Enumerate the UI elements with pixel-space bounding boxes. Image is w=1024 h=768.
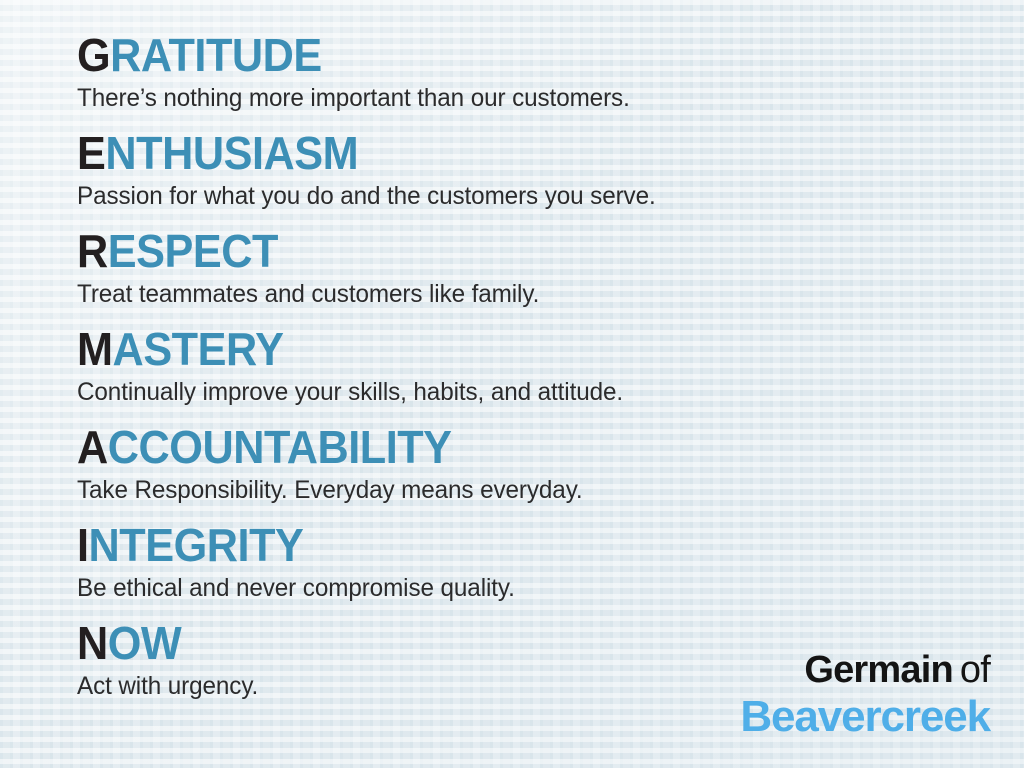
value-block-integrity: INTEGRITY Be ethical and never compromis… <box>77 520 977 605</box>
value-description-enthusiasm: Passion for what you do and the customer… <box>77 179 950 213</box>
value-block-gratitude: GRATITUDE There’s nothing more important… <box>77 30 977 115</box>
value-heading-gratitude: GRATITUDE <box>77 30 923 80</box>
value-heading-mastery: MASTERY <box>77 324 923 374</box>
value-description-respect: Treat teammates and customers like famil… <box>77 277 950 311</box>
value-heading-integrity: INTEGRITY <box>77 520 923 570</box>
value-heading-lead-letter: I <box>77 519 89 571</box>
value-description-gratitude: There’s nothing more important than our … <box>77 81 950 115</box>
value-heading-lead-letter: R <box>77 225 108 277</box>
value-block-accountability: ACCOUNTABILITY Take Responsibility. Ever… <box>77 422 977 507</box>
value-heading-lead-letter: M <box>77 323 113 375</box>
logo-line-primary: Germainof <box>740 649 990 691</box>
logo-location-name: Beavercreek <box>740 693 990 740</box>
value-heading-remainder: ESPECT <box>108 225 278 277</box>
value-block-enthusiasm: ENTHUSIASM Passion for what you do and t… <box>77 128 977 213</box>
value-heading-lead-letter: A <box>77 421 108 473</box>
value-block-respect: RESPECT Treat teammates and customers li… <box>77 226 977 311</box>
dealership-logo: Germainof Beavercreek <box>740 649 990 740</box>
value-description-mastery: Continually improve your skills, habits,… <box>77 375 950 409</box>
value-heading-lead-letter: N <box>77 617 108 669</box>
value-heading-accountability: ACCOUNTABILITY <box>77 422 923 472</box>
value-heading-enthusiasm: ENTHUSIASM <box>77 128 923 178</box>
value-heading-remainder: NTHUSIASM <box>105 127 358 179</box>
values-poster: GRATITUDE There’s nothing more important… <box>0 0 1024 768</box>
value-heading-lead-letter: E <box>77 127 105 179</box>
logo-brand-name: Germain <box>804 649 953 691</box>
value-heading-remainder: RATITUDE <box>110 29 322 81</box>
value-heading-remainder: CCOUNTABILITY <box>108 421 452 473</box>
value-heading-remainder: OW <box>108 617 182 669</box>
core-values-list: GRATITUDE There’s nothing more important… <box>77 30 977 716</box>
value-description-accountability: Take Responsibility. Everyday means ever… <box>77 473 950 507</box>
logo-connector-word: of <box>960 649 990 691</box>
value-block-mastery: MASTERY Continually improve your skills,… <box>77 324 977 409</box>
value-heading-lead-letter: G <box>77 29 110 81</box>
value-heading-remainder: NTEGRITY <box>89 519 304 571</box>
value-heading-remainder: ASTERY <box>113 323 284 375</box>
value-description-integrity: Be ethical and never compromise quality. <box>77 571 950 605</box>
value-heading-respect: RESPECT <box>77 226 923 276</box>
